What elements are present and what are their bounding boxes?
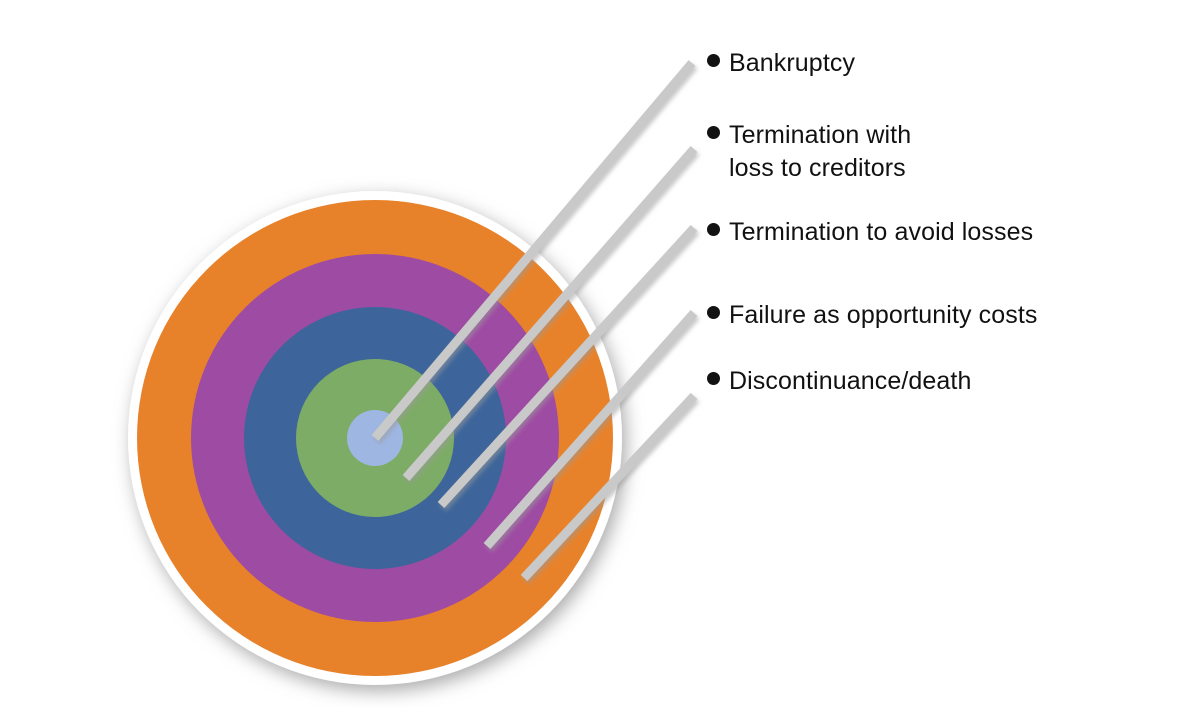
callout-failure-as-opportunity-costs[interactable]: Failure as opportunity costs [707, 299, 1038, 332]
bullet-icon [707, 372, 720, 385]
bullet-icon [707, 223, 720, 236]
callout-label: Discontinuance/death [729, 365, 971, 398]
callout-bankruptcy[interactable]: Bankruptcy [707, 47, 855, 80]
callout-label: Bankruptcy [729, 47, 855, 80]
diagram-canvas [0, 0, 1200, 707]
callout-label: Failure as opportunity costs [729, 299, 1038, 332]
callout-termination-to-avoid-losses[interactable]: Termination to avoid losses [707, 216, 1033, 249]
bullet-icon [707, 126, 720, 139]
bullet-icon [707, 306, 720, 319]
callout-label: Termination to avoid losses [729, 216, 1033, 249]
callout-discontinuance-death[interactable]: Discontinuance/death [707, 365, 971, 398]
bullet-icon [707, 54, 720, 67]
callout-termination-with-loss-to-creditors[interactable]: Termination with loss to creditors [707, 119, 911, 185]
callout-label: Termination with loss to creditors [729, 119, 911, 185]
